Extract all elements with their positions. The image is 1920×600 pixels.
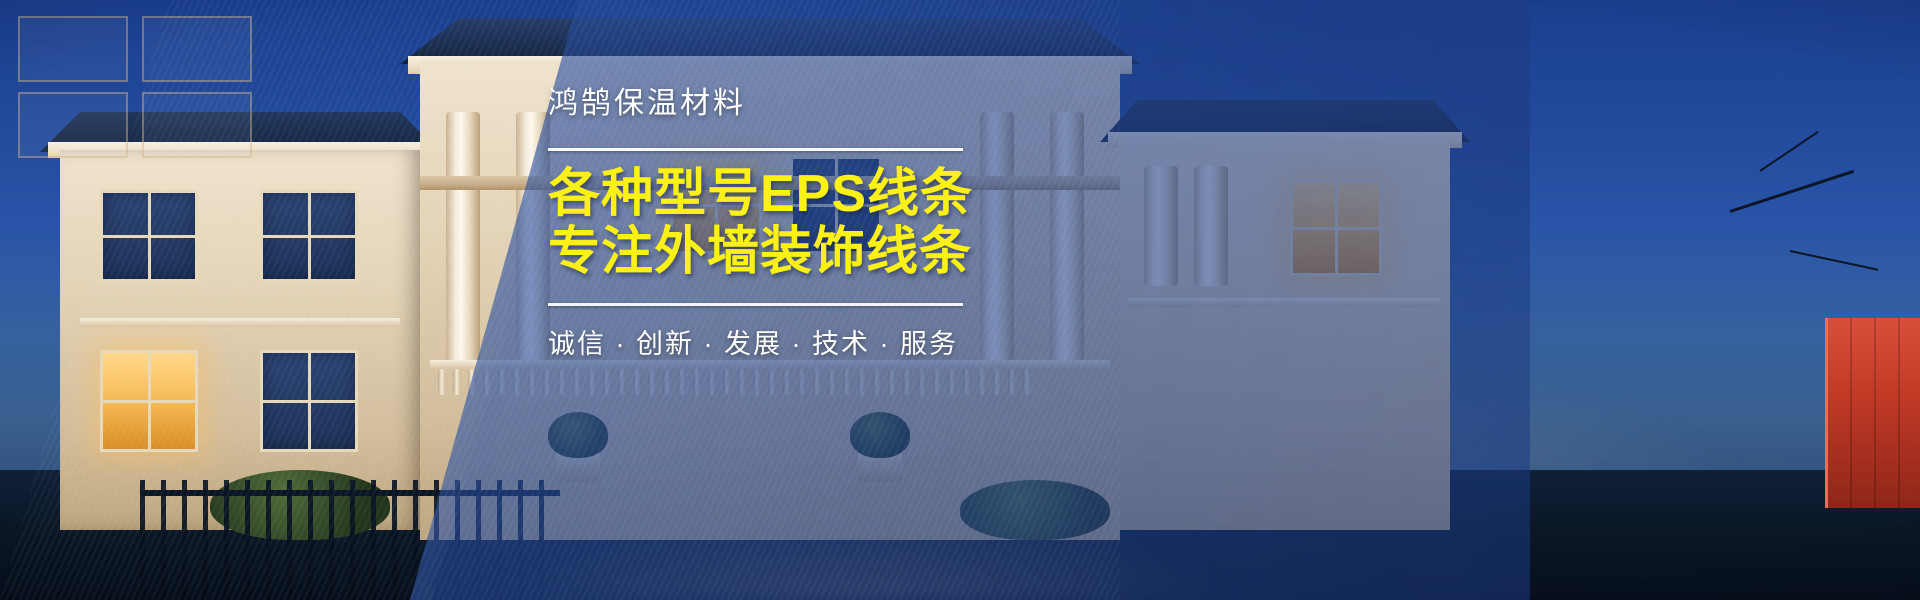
banner-copy: 鸿鹄保温材料 各种型号EPS线条 专注外墙装饰线条 诚信 · 创新 · 发展 ·… [548, 86, 1018, 361]
red-panel-object [1825, 318, 1920, 508]
divider-top [548, 148, 963, 151]
brand-name: 鸿鹄保温材料 [548, 86, 1018, 122]
promo-banner: 鸿鹄保温材料 各种型号EPS线条 专注外墙装饰线条 诚信 · 创新 · 发展 ·… [0, 0, 1920, 600]
divider-bottom [548, 303, 963, 306]
headline-line-1: 各种型号EPS线条 [548, 165, 1018, 223]
headline-line-2: 专注外墙装饰线条 [548, 223, 1018, 281]
tagline: 诚信 · 创新 · 发展 · 技术 · 服务 [548, 322, 1018, 361]
